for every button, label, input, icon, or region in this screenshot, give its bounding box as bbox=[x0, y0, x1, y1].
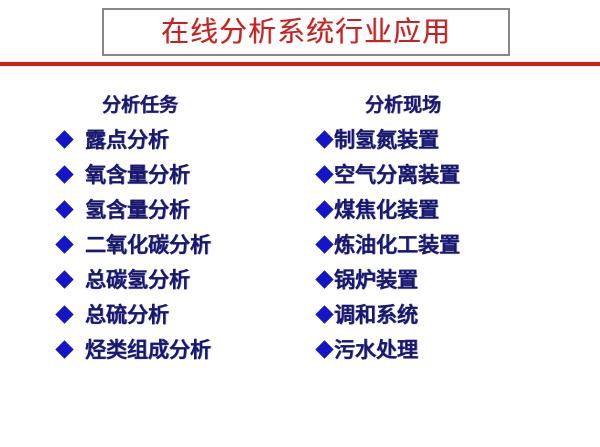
list-item-label: 氢含量分析 bbox=[85, 198, 190, 222]
list-item: 氧含量分析 bbox=[40, 157, 310, 192]
diamond-bullet-icon bbox=[315, 340, 333, 358]
diamond-bullet-icon bbox=[315, 200, 333, 218]
content-columns: 分析任务 露点分析 氧含量分析 氢含量分析 二氧化碳分析 bbox=[0, 92, 600, 392]
list-item: 污水处理 bbox=[310, 332, 590, 367]
list-item-label: 污水处理 bbox=[334, 338, 418, 362]
list-item-label: 烃类组成分析 bbox=[85, 338, 211, 362]
page-title: 在线分析系统行业应用 bbox=[161, 18, 451, 46]
list-item-label: 总硫分析 bbox=[85, 303, 169, 327]
list-item: 露点分析 bbox=[40, 122, 310, 157]
column-analysis-tasks: 分析任务 露点分析 氧含量分析 氢含量分析 二氧化碳分析 bbox=[40, 92, 310, 367]
list-item-label: 总碳氢分析 bbox=[85, 268, 190, 292]
list-item: 氢含量分析 bbox=[40, 192, 310, 227]
list-item-label: 制氢氮装置 bbox=[334, 128, 439, 152]
diamond-bullet-icon bbox=[55, 235, 73, 253]
list-item: 空气分离装置 bbox=[310, 157, 590, 192]
diamond-bullet-icon bbox=[315, 305, 333, 323]
bullet-list-analysis-sites: 制氢氮装置 空气分离装置 煤焦化装置 炼油化工装置 锅炉装置 bbox=[310, 122, 590, 367]
list-item-label: 调和系统 bbox=[334, 303, 418, 327]
slide-canvas: 在线分析系统行业应用 分析任务 露点分析 氧含量分析 氢含量分析 bbox=[0, 0, 600, 447]
list-item-label: 炼油化工装置 bbox=[334, 233, 460, 257]
diamond-bullet-icon bbox=[315, 130, 333, 148]
list-item: 调和系统 bbox=[310, 297, 590, 332]
list-item: 锅炉装置 bbox=[310, 262, 590, 297]
list-item-label: 氧含量分析 bbox=[85, 163, 190, 187]
column-analysis-sites: 分析现场 制氢氮装置 空气分离装置 煤焦化装置 炼油化工装置 bbox=[310, 92, 590, 367]
diamond-bullet-icon bbox=[315, 270, 333, 288]
diamond-bullet-icon bbox=[55, 130, 73, 148]
diamond-bullet-icon bbox=[55, 165, 73, 183]
column-header-analysis-sites: 分析现场 bbox=[310, 92, 590, 122]
list-item-label: 锅炉装置 bbox=[334, 268, 418, 292]
list-item: 烃类组成分析 bbox=[40, 332, 310, 367]
bullet-list-analysis-tasks: 露点分析 氧含量分析 氢含量分析 二氧化碳分析 总碳氢分析 bbox=[40, 122, 310, 367]
list-item-label: 二氧化碳分析 bbox=[85, 233, 211, 257]
list-item: 制氢氮装置 bbox=[310, 122, 590, 157]
diamond-bullet-icon bbox=[315, 235, 333, 253]
list-item: 总硫分析 bbox=[40, 297, 310, 332]
list-item-label: 空气分离装置 bbox=[334, 163, 460, 187]
list-item-label: 露点分析 bbox=[85, 128, 169, 152]
list-item: 二氧化碳分析 bbox=[40, 227, 310, 262]
title-box: 在线分析系统行业应用 bbox=[102, 8, 510, 56]
diamond-bullet-icon bbox=[55, 270, 73, 288]
diamond-bullet-icon bbox=[55, 305, 73, 323]
list-item: 煤焦化装置 bbox=[310, 192, 590, 227]
title-divider-rule bbox=[0, 62, 600, 66]
diamond-bullet-icon bbox=[55, 340, 73, 358]
column-header-analysis-tasks: 分析任务 bbox=[40, 92, 310, 122]
list-item: 总碳氢分析 bbox=[40, 262, 310, 297]
diamond-bullet-icon bbox=[55, 200, 73, 218]
list-item: 炼油化工装置 bbox=[310, 227, 590, 262]
diamond-bullet-icon bbox=[315, 165, 333, 183]
list-item-label: 煤焦化装置 bbox=[334, 198, 439, 222]
